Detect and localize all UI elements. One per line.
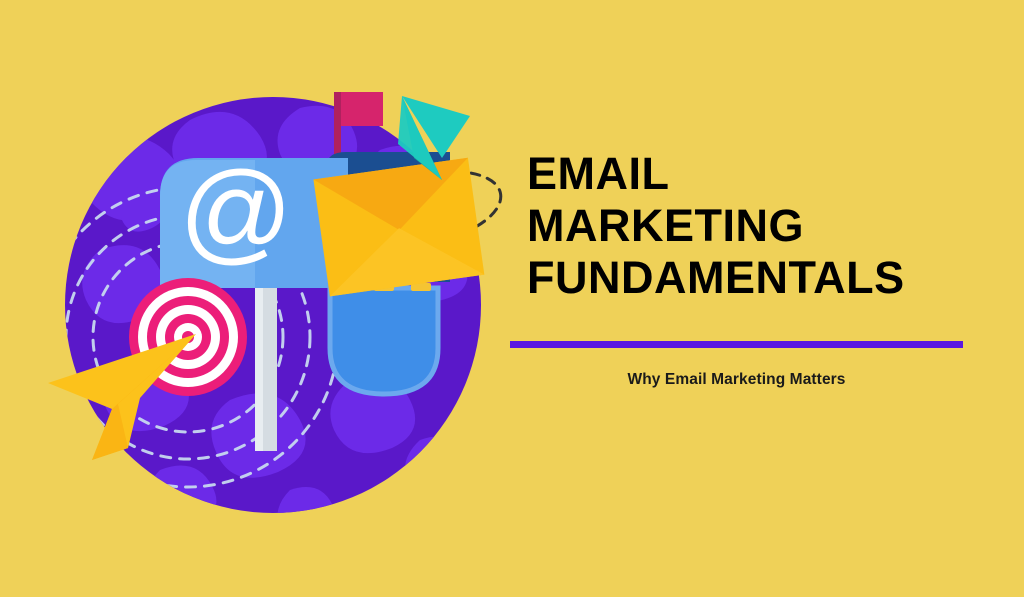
envelope (313, 158, 484, 297)
title-line-1: EMAIL (527, 148, 980, 200)
mailbox-door (330, 283, 438, 394)
subtitle: Why Email Marketing Matters (510, 371, 963, 389)
title-divider (510, 341, 963, 348)
title-line-3: FUNDAMENTALS (527, 252, 980, 304)
title-line-2: MARKETING (527, 200, 980, 252)
mailbox-post (255, 286, 277, 451)
at-symbol: @ (179, 149, 293, 274)
title-block: EMAIL MARKETING FUNDAMENTALS (510, 148, 980, 304)
slide-canvas: @ (0, 0, 1024, 597)
email-marketing-illustration: @ (0, 0, 520, 597)
page-title: EMAIL MARKETING FUNDAMENTALS (510, 148, 980, 304)
